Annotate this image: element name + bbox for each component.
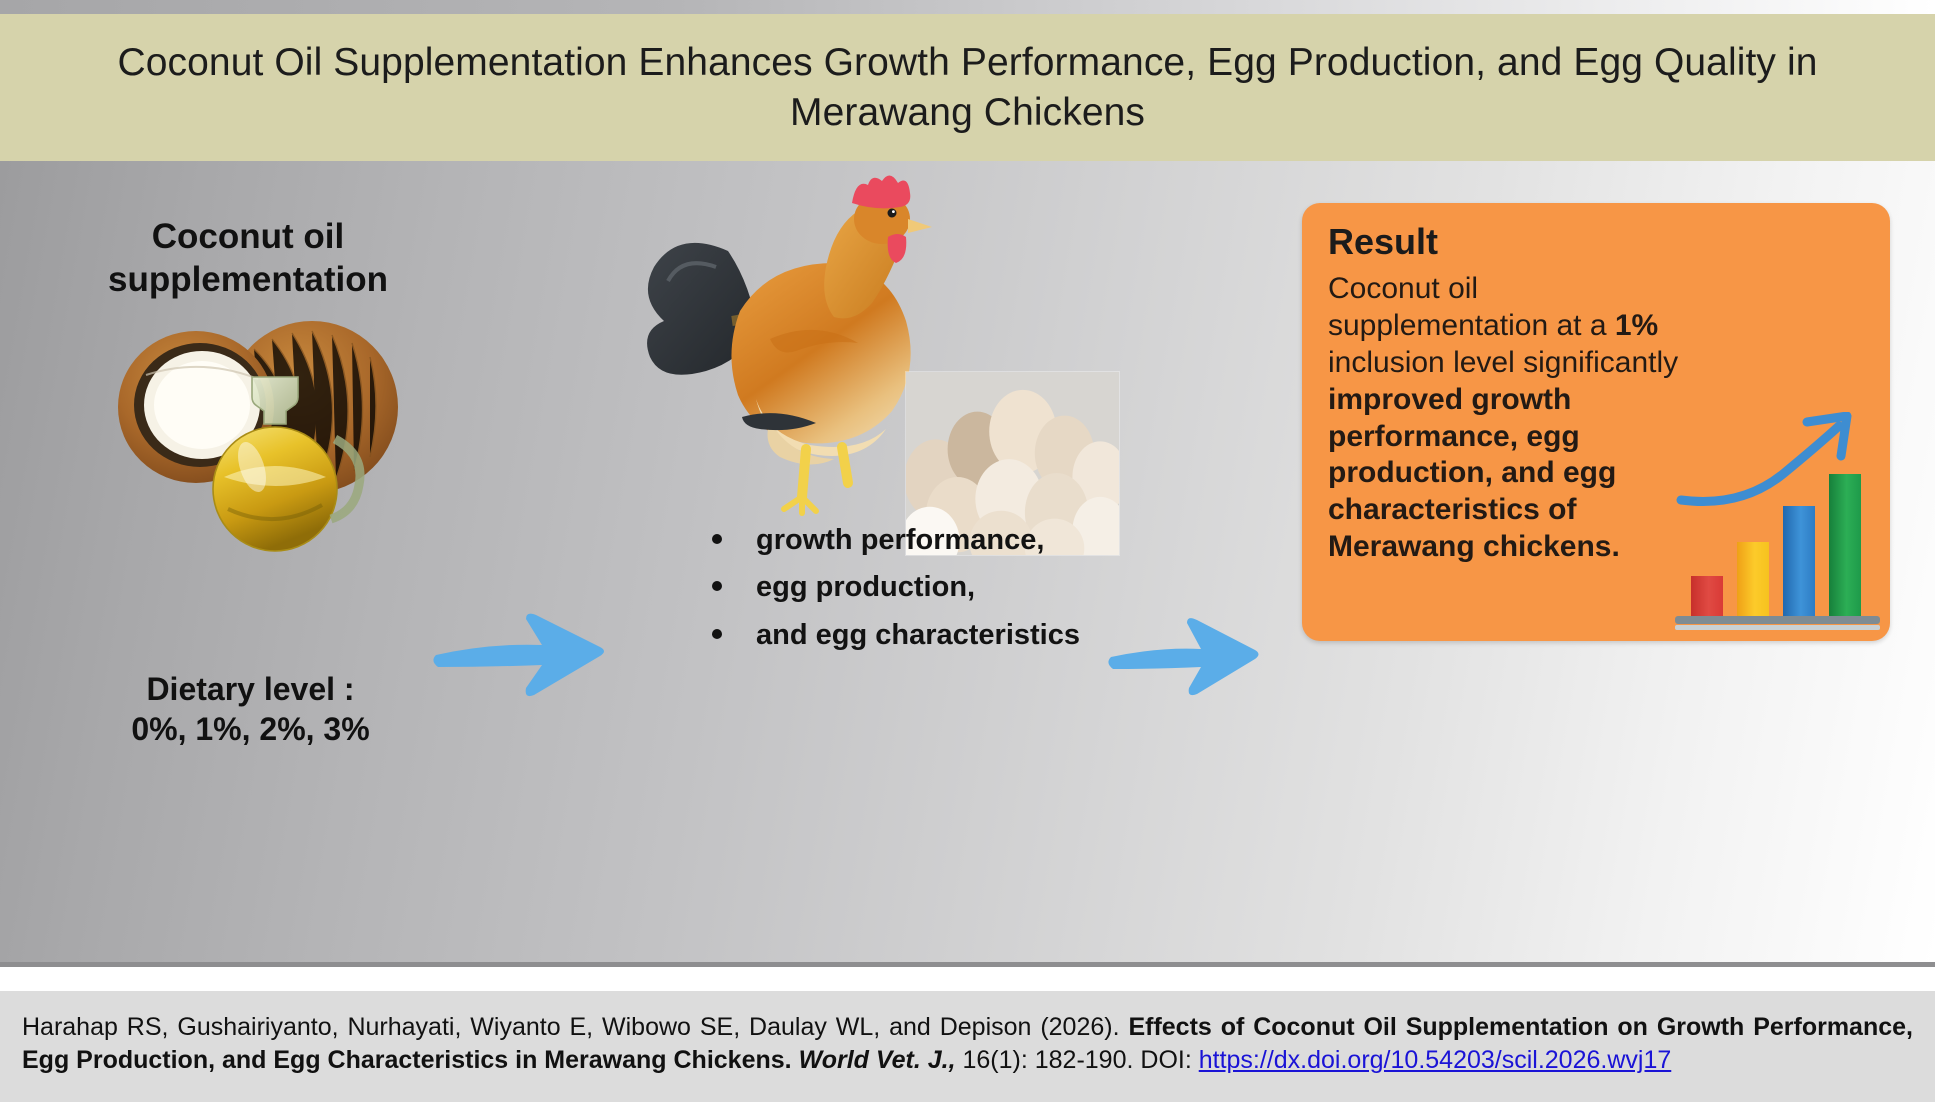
bullet-dot-icon <box>712 581 722 591</box>
result-box: Result Coconut oil supplementation at a … <box>1302 203 1890 641</box>
coconut-supplementation-heading: Coconut oil supplementation <box>78 216 418 301</box>
list-item-label: and egg characteristics <box>756 619 1080 651</box>
arrow-right-icon-2 <box>1105 601 1265 711</box>
chart-base <box>1675 616 1880 624</box>
coconut-oil-image <box>104 309 404 554</box>
title-band: Coconut Oil Supplementation Enhances Gro… <box>0 14 1935 161</box>
citation-journal: World Vet. J., <box>799 1046 956 1074</box>
result-bold-conclusion: improved growth performance, egg product… <box>1328 383 1620 564</box>
chicken-eye <box>888 209 897 218</box>
chicken-comb <box>852 175 910 208</box>
top-gradient-strip <box>0 0 1935 14</box>
bullet-dot-icon <box>712 629 722 639</box>
growth-bar-chart-icon <box>1675 412 1880 637</box>
chart-bar-2 <box>1737 542 1769 616</box>
chicken-beak <box>908 219 932 233</box>
citation-volume-pages: 16(1): 182-190. DOI: <box>956 1046 1199 1074</box>
list-item-label: egg production, <box>756 571 975 603</box>
list-item: growth performance, <box>700 521 1220 559</box>
chart-bar-4 <box>1829 474 1861 616</box>
result-percentage: 1% <box>1615 309 1658 342</box>
chart-bar-3 <box>1783 506 1815 616</box>
result-body-text: Coconut oil supplementation at a 1% incl… <box>1328 271 1698 566</box>
list-item-label: growth performance, <box>756 524 1044 556</box>
chart-bar-1 <box>1691 576 1723 616</box>
citation-white-gap <box>0 967 1935 991</box>
graphical-abstract-poster: Coconut Oil Supplementation Enhances Gro… <box>0 0 1935 1102</box>
growth-arrow-icon <box>1681 416 1847 502</box>
dietary-level-text: Dietary level : 0%, 1%, 2%, 3% <box>68 669 433 749</box>
citation-doi-link[interactable]: https://dx.doi.org/10.54203/scil.2026.wv… <box>1199 1046 1672 1074</box>
page-title: Coconut Oil Supplementation Enhances Gro… <box>108 38 1828 136</box>
bullet-dot-icon <box>712 534 722 544</box>
result-heading: Result <box>1328 221 1438 263</box>
citation-text: Harahap RS, Gushairiyanto, Nurhayati, Wi… <box>22 1011 1913 1077</box>
result-line-2: inclusion level significantly <box>1328 346 1678 379</box>
citation-authors: Harahap RS, Gushairiyanto, Nurhayati, Wi… <box>22 1013 1128 1041</box>
result-line-1: Coconut oil supplementation at a <box>1328 272 1615 342</box>
dietary-level-label: Dietary level : <box>68 669 433 709</box>
arrow-right-icon-1 <box>430 591 610 713</box>
citation-band: Harahap RS, Gushairiyanto, Nurhayati, Wi… <box>0 991 1935 1102</box>
main-content-panel: Coconut oil supplementation <box>0 161 1935 967</box>
dietary-level-values: 0%, 1%, 2%, 3% <box>68 709 433 749</box>
